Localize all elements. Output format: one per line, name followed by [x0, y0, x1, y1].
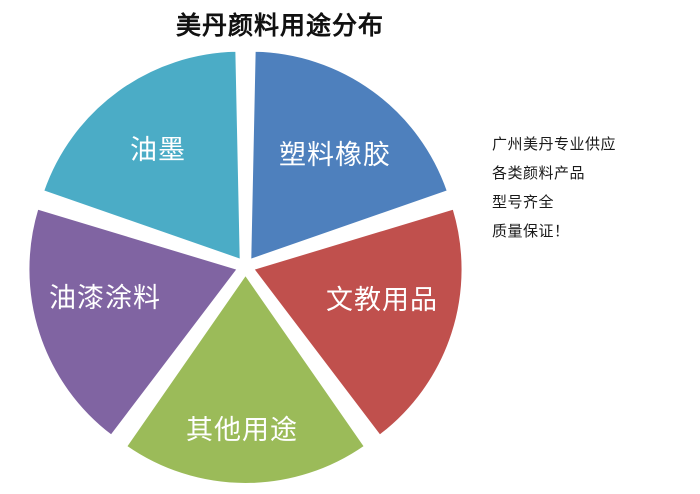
side-note-line-1: 广州美丹专业供应 [492, 131, 692, 160]
pie-chart: 塑料橡胶 文教用品 其他用途 油漆涂料 油墨 [0, 30, 500, 494]
pie-slice-label-other-uses: 其他用途 [186, 415, 298, 445]
side-note-line-4: 质量保证！ [492, 218, 692, 247]
pie-slice-label-paint-coating: 油漆涂料 [49, 283, 161, 313]
pie-chart-page: 美丹颜料用途分布 塑料橡胶 文教用品 其他用途 油漆涂料 油墨 [0, 0, 700, 494]
side-note-block: 广州美丹专业供应 各类颜料产品 型号齐全 质量保证！ [492, 131, 692, 247]
pie-slice-label-ink: 油墨 [130, 135, 186, 165]
pie-chart-svg: 塑料橡胶 文教用品 其他用途 油漆涂料 油墨 [0, 30, 500, 494]
side-note-line-3: 型号齐全 [492, 189, 692, 218]
side-note-line-2: 各类颜料产品 [492, 160, 692, 189]
pie-slice-label-stationery: 文教用品 [326, 285, 438, 315]
pie-slice-label-plastic-rubber: 塑料橡胶 [279, 140, 391, 170]
